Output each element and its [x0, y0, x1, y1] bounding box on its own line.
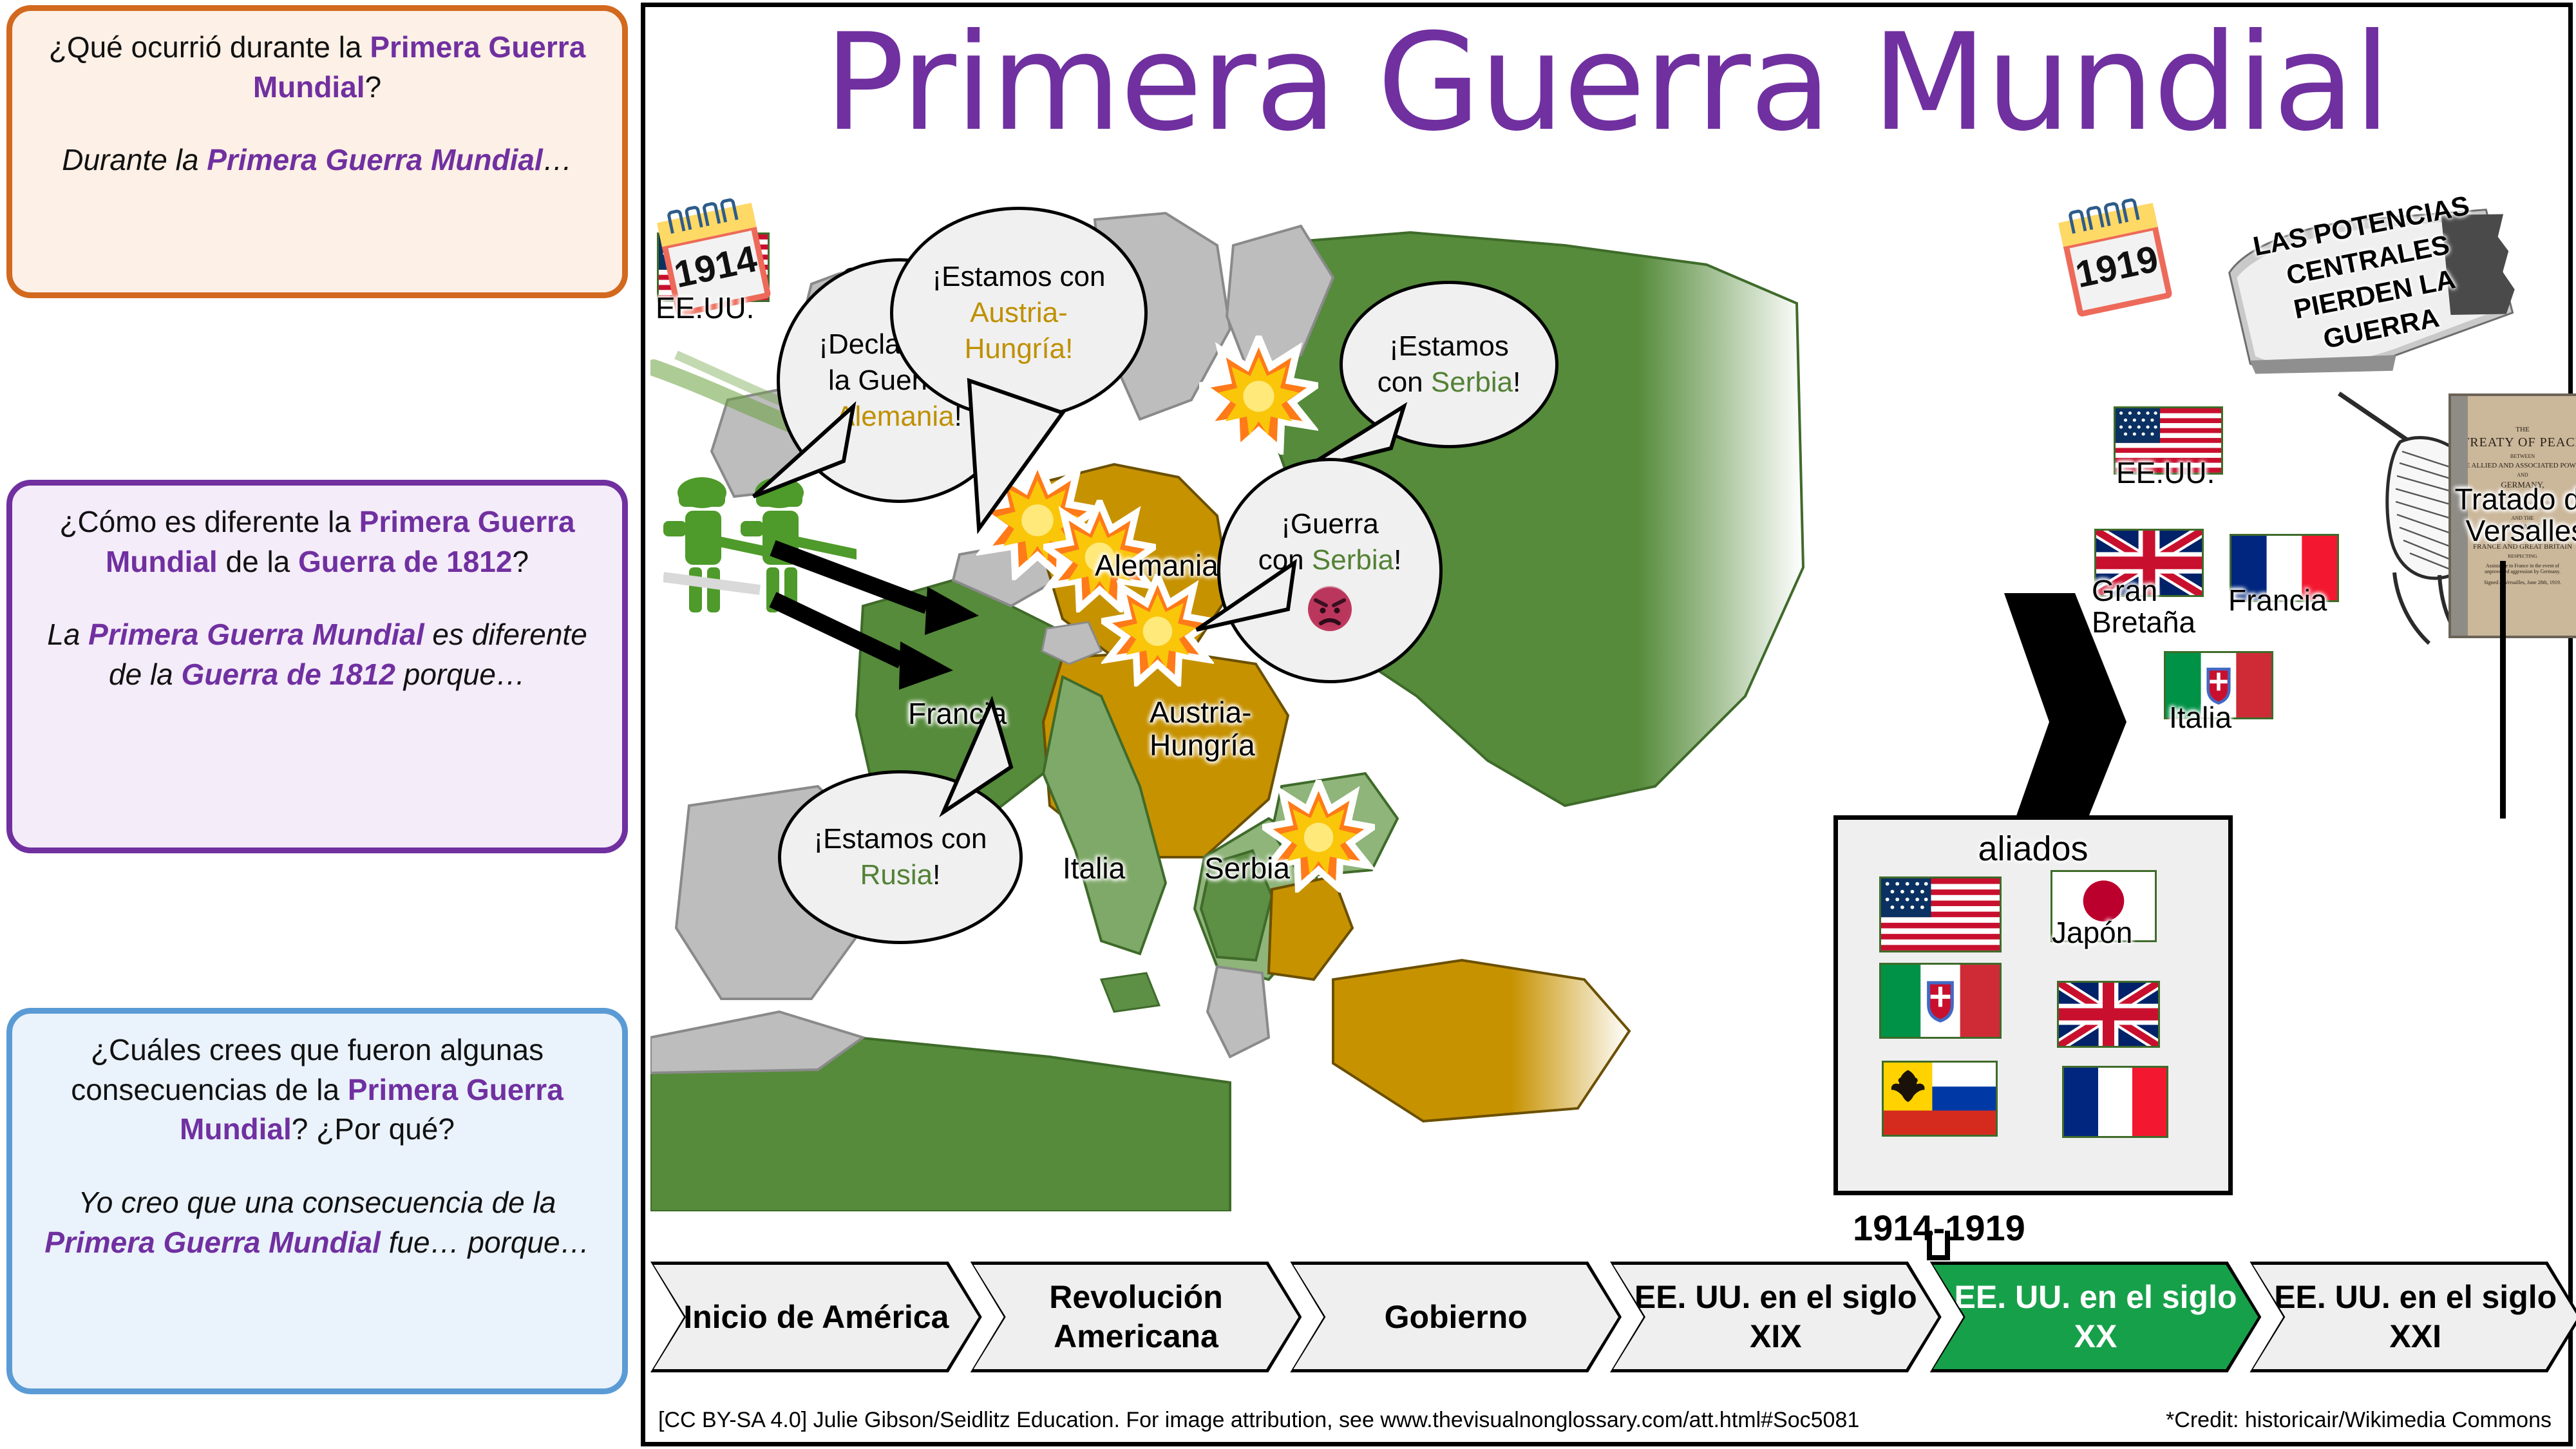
treaty-line-0: THE	[2456, 426, 2576, 433]
timeline-step-eeuu-siglo-xxi[interactable]: EE. UU. en el siglo XXI	[2249, 1262, 2576, 1372]
bubble-line-2: con Serbia!	[1378, 365, 1521, 401]
treaty-label: Tratado de Versalles	[2423, 484, 2576, 547]
treaty-line-2: BETWEEN	[2456, 453, 2576, 459]
bubble-tail-austria	[1191, 558, 1301, 641]
bubble-tail-eeuu	[728, 400, 857, 516]
timeline-year-marker: 1914-1919	[1853, 1207, 2025, 1249]
question-text-3: ¿Cuáles crees que fueron algunas consecu…	[34, 1030, 600, 1150]
timeline-step-eeuu-siglo-xix[interactable]: EE. UU. en el siglo XIX	[1610, 1262, 1942, 1372]
timeline: Inicio de América Revolución Americana G…	[650, 1262, 2570, 1372]
flag-label-eeuu: EE.UU.	[2116, 455, 2215, 490]
timeline-step-label: Gobierno	[1293, 1265, 1618, 1369]
flag-gran-bretana-icon	[2057, 981, 2160, 1048]
map-label-eeuu: EE.UU.	[656, 290, 754, 325]
angry-face-icon	[1304, 583, 1356, 635]
question-text-1: ¿Qué ocurrió durante la Primera Guerra M…	[34, 28, 600, 107]
timeline-step-gobierno[interactable]: Gobierno	[1290, 1262, 1622, 1372]
timeline-step-revolucion-americana[interactable]: Revolución Americana	[971, 1262, 1302, 1372]
bubble-line-3: Hungría!	[965, 331, 1074, 367]
credit-right: *Credit: historicair/Wikimedia Commons	[2166, 1408, 2552, 1433]
footnote-star-marker: *	[1410, 207, 1426, 240]
sentence-stem-1: Durante la Primera Guerra Mundial…	[34, 140, 600, 180]
treaty-line-14: Assistance to France in the event of	[2456, 563, 2576, 569]
timeline-step-label: EE. UU. en el siglo XXI	[2253, 1265, 2576, 1369]
flag-label-gran-bretana: Gran Bretaña	[2092, 575, 2214, 638]
sidebar-questions: ¿Qué ocurrió durante la Primera Guerra M…	[0, 0, 638, 1449]
flag-label-italia: Italia	[2169, 700, 2231, 735]
flag-eeuu-icon	[1879, 876, 2002, 952]
treaty-to-aliados-connector	[2500, 561, 2506, 819]
timeline-year-stem-r	[1945, 1231, 1950, 1260]
bubble-line-1: ¡Estamos	[1389, 328, 1509, 365]
flag-francia-icon	[2062, 1066, 2168, 1138]
treaty-line-15: unprovoked aggression by Germany.	[2456, 569, 2576, 574]
map-label-serbia: Serbia	[1204, 851, 1290, 885]
timeline-step-label: Revolución Americana	[974, 1265, 1299, 1369]
treaty-line-4: AND	[2456, 472, 2576, 478]
treaty-line-13: RESPECTING	[2456, 553, 2576, 559]
flag-rusia-icon	[1882, 1061, 1998, 1137]
sentence-stem-3: Yo creo que una consecuencia de la Prime…	[34, 1183, 600, 1262]
timeline-step-inicio-de-america[interactable]: Inicio de América	[650, 1262, 982, 1372]
timeline-step-label: EE. UU. en el siglo XIX	[1613, 1265, 1938, 1369]
treaty-line-16: Signed at Versailles, June 28th, 1919.	[2456, 580, 2576, 585]
bubble-tail-francia	[927, 696, 1043, 819]
bubble-line-1: ¡Guerra	[1281, 506, 1379, 542]
timeline-step-label: EE. UU. en el siglo XX	[1933, 1265, 2259, 1369]
question-card-1: ¿Qué ocurrió durante la Primera Guerra M…	[6, 5, 628, 298]
question-card-3: ¿Cuáles crees que fueron algunas consecu…	[6, 1008, 628, 1394]
timeline-year-stem-l	[1927, 1231, 1932, 1260]
flag-label-japon: Japón	[2052, 915, 2132, 950]
question-card-2: ¿Cómo es diferente la Primera Guerra Mun…	[6, 480, 628, 853]
calendar-1919-icon: 1919	[2058, 203, 2173, 317]
map-label-austria-hungria: Austria-Hungría	[1150, 696, 1272, 761]
page-title: Primera Guerra Mundial	[645, 16, 2568, 150]
flag-italia-icon	[1879, 963, 2002, 1039]
timeline-step-label: Inicio de América	[654, 1265, 979, 1369]
main-panel: Primera Guerra Mundial	[641, 3, 2573, 1446]
treaty-line-3: THE ALLIED AND ASSOCIATED POWERS	[2456, 462, 2576, 469]
bubble-tail-alemania	[960, 374, 1101, 535]
aliados-heading: aliados	[1838, 829, 2228, 869]
map-label-italia: Italia	[1063, 851, 1125, 885]
credit-left: [CC BY-SA 4.0] Julie Gibson/Seidlitz Edu…	[658, 1408, 1859, 1433]
bubble-line-1: ¡Estamos con	[933, 259, 1106, 295]
question-text-2: ¿Cómo es diferente la Primera Guerra Mun…	[34, 502, 600, 582]
flag-label-francia: Francia	[2228, 583, 2327, 618]
bubble-line-2: Rusia!	[860, 857, 941, 893]
timeline-step-eeuu-siglo-xx[interactable]: EE. UU. en el siglo XX	[1930, 1262, 2262, 1372]
bubble-line-1: ¡Estamos con	[814, 821, 987, 857]
treaty-line-1: TREATY OF PEACE	[2456, 435, 2576, 450]
bubble-line-2: Austria-	[970, 295, 1068, 331]
aliados-box: aliados Japón	[1833, 815, 2233, 1195]
sentence-stem-2: La Primera Guerra Mundial es diferente d…	[34, 615, 600, 694]
newspaper-icon: LAS POTENCIAS CENTRALES PIERDEN LA GUERR…	[2208, 173, 2541, 414]
